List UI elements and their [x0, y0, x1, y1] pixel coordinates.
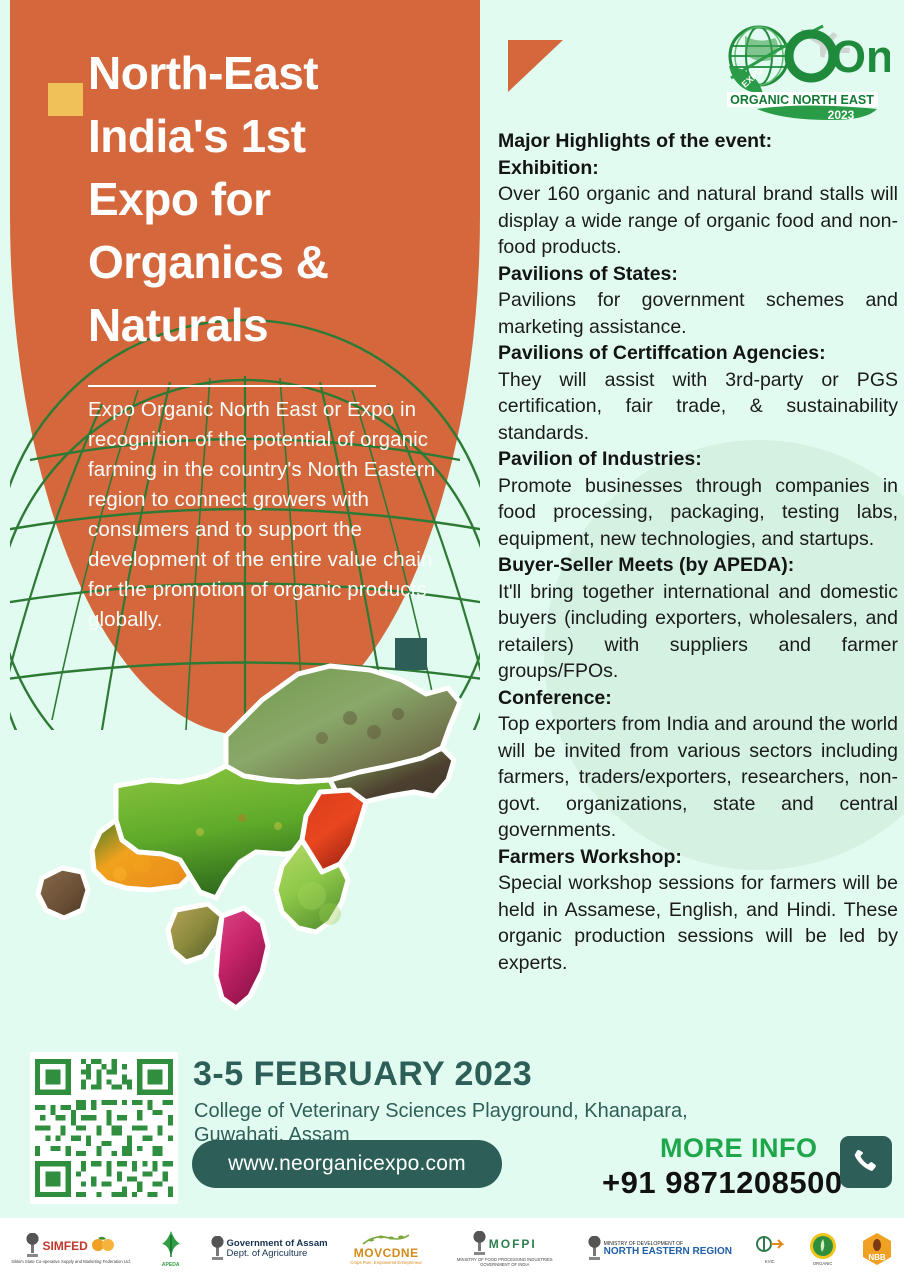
poster-description: Expo Organic North East or Expo in recog… — [88, 395, 458, 635]
highlight-body-exhibition: Over 160 organic and natural brand stall… — [498, 181, 898, 261]
sponsor-apeda-name: APEDA — [162, 1263, 180, 1268]
highlight-head-conference: Conference: — [498, 685, 898, 712]
sponsor-doner-name: NORTH EASTERN REGION — [604, 1247, 732, 1258]
logo-year: 2023 — [828, 108, 855, 122]
yellow-accent-square — [48, 83, 83, 116]
sponsor-logo-strip: SIMFED Sikkim State Co-operative Supply … — [0, 1218, 904, 1280]
sponsor-simfed-subtitle: Sikkim State Co-operative Supply and Mar… — [11, 1260, 130, 1264]
qr-code[interactable] — [30, 1052, 178, 1204]
highlight-head-buyer-seller: Buyer-Seller Meets (by APEDA): — [498, 552, 898, 579]
sponsor-fpo-name: ORGANIC — [813, 1262, 833, 1266]
northeast-india-map-collage — [30, 640, 490, 1040]
highlights-column: EXPO One ORGANIC NORTH EAST 2023 Major H… — [488, 0, 904, 1030]
brand-logo: EXPO One ORGANIC NORTH EAST 2023 — [715, 14, 890, 122]
highlight-body-industries: Promote businesses through companies in … — [498, 473, 898, 553]
sponsor-movcdne-name: MOVCDNE — [354, 1247, 419, 1260]
sponsor-mofpi-name: MOFPI — [489, 1238, 537, 1251]
sponsor-doner: MINISTRY OF DEVELOPMENT OF NORTH EASTERN… — [588, 1236, 732, 1262]
sponsor-fpo-organic: ORGANIC — [808, 1231, 838, 1266]
movcdne-vine-icon — [361, 1233, 411, 1247]
highlight-body-workshop: Special workshop sessions for farmers wi… — [498, 870, 898, 976]
sponsor-apeda: APEDA — [154, 1229, 188, 1268]
sponsor-movcdne-subtitle: Crops Pure, Empowered Entrepreneur — [350, 1261, 421, 1265]
highlight-head-workshop: Farmers Workshop: — [498, 844, 898, 871]
title-line-5: Naturals — [88, 294, 468, 357]
more-info-label: MORE INFO — [660, 1133, 818, 1164]
sponsor-assam-subtitle: Dept. of Agriculture — [227, 1249, 328, 1259]
svg-text:NBB: NBB — [868, 1253, 886, 1262]
orange-triangle-decoration — [508, 40, 563, 92]
highlight-body-states: Pavilions for government schemes and mar… — [498, 287, 898, 340]
title-line-3: Expo for — [88, 168, 468, 231]
sponsor-simfed: SIMFED Sikkim State Co-operative Supply … — [11, 1233, 130, 1264]
title-line-2: India's 1st — [88, 105, 468, 168]
nbb-hexagon-icon: NBB — [861, 1232, 893, 1266]
assam-emblem-icon — [211, 1236, 224, 1262]
highlights-heading: Major Highlights of the event: — [498, 128, 898, 155]
title-line-4: Organics & — [88, 231, 468, 294]
highlight-head-certification: Pavilions of Certiffcation Agencies: — [498, 340, 898, 367]
sponsor-simfed-name: SIMFED — [42, 1240, 87, 1253]
sponsor-movcdne: MOVCDNE Crops Pure, Empowered Entreprene… — [350, 1233, 421, 1265]
simfed-emblem-icon — [26, 1233, 39, 1259]
phone-number[interactable]: +91 9871208500 — [602, 1165, 843, 1201]
sponsor-assam-agri: Government of Assam Dept. of Agriculture — [211, 1236, 328, 1262]
highlight-head-states: Pavilions of States: — [498, 261, 898, 288]
khadi-icon — [755, 1233, 785, 1259]
highlights-content: Major Highlights of the event: Exhibitio… — [498, 128, 898, 976]
website-link[interactable]: www.neorganicexpo.com — [192, 1140, 502, 1188]
sponsor-mofpi: MOFPI MINISTRY OF FOOD PROCESSING INDUST… — [445, 1231, 565, 1267]
highlight-body-conference: Top exporters from India and around the … — [498, 711, 898, 844]
page-title: North-East India's 1st Expo for Organics… — [88, 42, 468, 357]
title-divider — [88, 385, 376, 387]
event-date: 3-5 FEBRUARY 2023 — [193, 1055, 532, 1094]
logo-word: One — [831, 31, 890, 82]
logo-tagline: ORGANIC NORTH EAST — [730, 93, 874, 107]
mofpi-emblem-icon — [473, 1231, 486, 1257]
sponsor-khadi-name: KVIC — [765, 1260, 775, 1264]
highlight-head-exhibition: Exhibition: — [498, 155, 898, 182]
highlight-body-buyer-seller: It'll bring together international and d… — [498, 579, 898, 685]
highlight-body-certification: They will assist with 3rd-party or PGS c… — [498, 367, 898, 447]
organic-seal-icon — [808, 1231, 838, 1261]
phone-icon[interactable] — [840, 1136, 892, 1188]
highlight-head-industries: Pavilion of Industries: — [498, 446, 898, 473]
website-url-text: www.neorganicexpo.com — [228, 1152, 466, 1176]
apeda-leaf-icon — [154, 1229, 188, 1263]
sponsor-mofpi-subtitle: MINISTRY OF FOOD PROCESSING INDUSTRIES G… — [445, 1258, 565, 1267]
sponsor-khadi: KVIC — [755, 1233, 785, 1264]
sponsor-nbb: NBB — [861, 1232, 893, 1266]
venue-line-1: College of Veterinary Sciences Playgroun… — [194, 1098, 688, 1124]
title-line-1: North-East — [88, 42, 468, 105]
doner-emblem-icon — [588, 1236, 601, 1262]
